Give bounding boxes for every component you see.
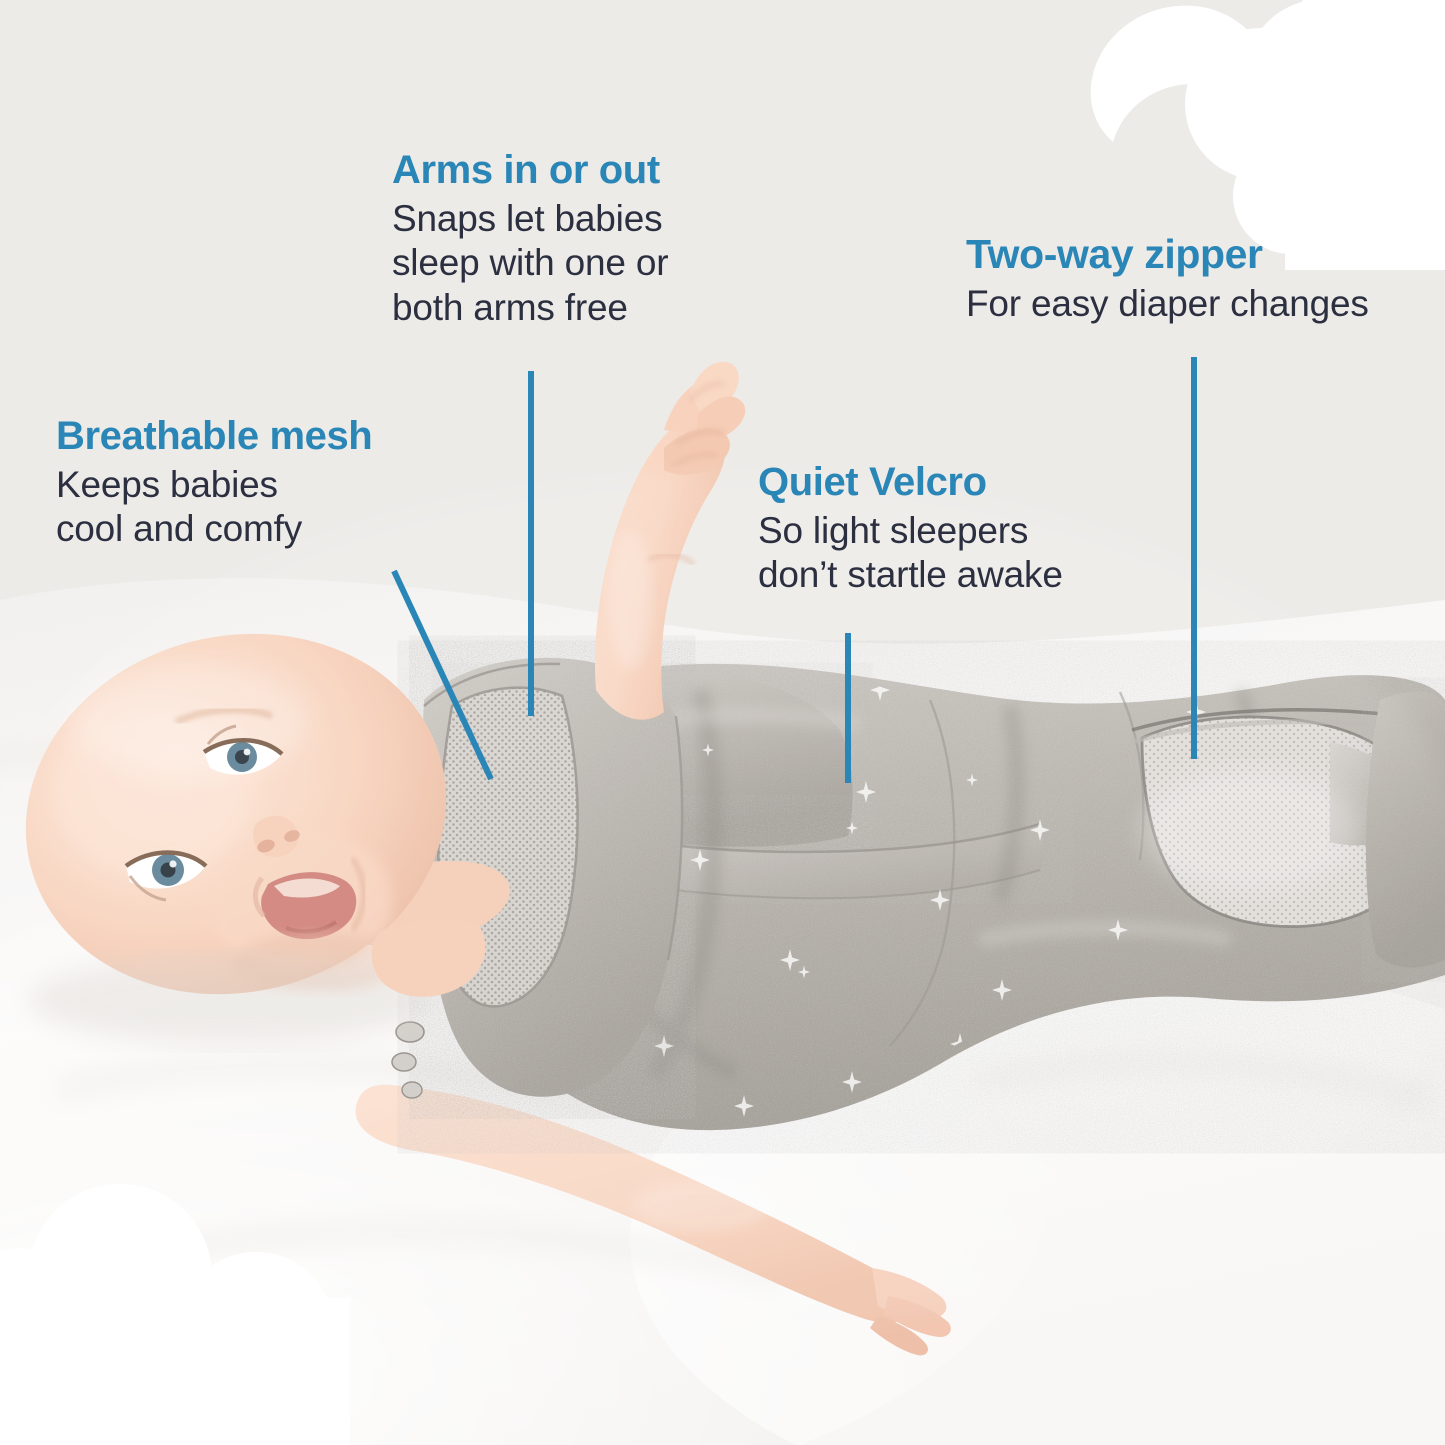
callout-body-arms-in-or-out: Snaps let babies sleep with one or both … [392, 197, 668, 330]
infographic-canvas: Breathable mesh Keeps babies cool and co… [0, 0, 1445, 1445]
callout-two-way-zipper: Two-way zipper For easy diaper changes [966, 232, 1369, 326]
callout-arms-in-or-out: Arms in or out Snaps let babies sleep wi… [392, 148, 668, 330]
callout-title-breathable-mesh: Breathable mesh [56, 414, 372, 459]
callout-title-arms-in-or-out: Arms in or out [392, 148, 668, 193]
callout-quiet-velcro: Quiet Velcro So light sleepers don’t sta… [758, 460, 1063, 598]
callout-breathable-mesh: Breathable mesh Keeps babies cool and co… [56, 414, 372, 552]
callout-body-quiet-velcro: So light sleepers don’t startle awake [758, 509, 1063, 598]
callout-body-breathable-mesh: Keeps babies cool and comfy [56, 463, 372, 552]
callout-title-quiet-velcro: Quiet Velcro [758, 460, 1063, 505]
baby-product-photo [0, 0, 1445, 1445]
callout-body-two-way-zipper: For easy diaper changes [966, 282, 1369, 326]
callout-title-two-way-zipper: Two-way zipper [966, 232, 1369, 278]
